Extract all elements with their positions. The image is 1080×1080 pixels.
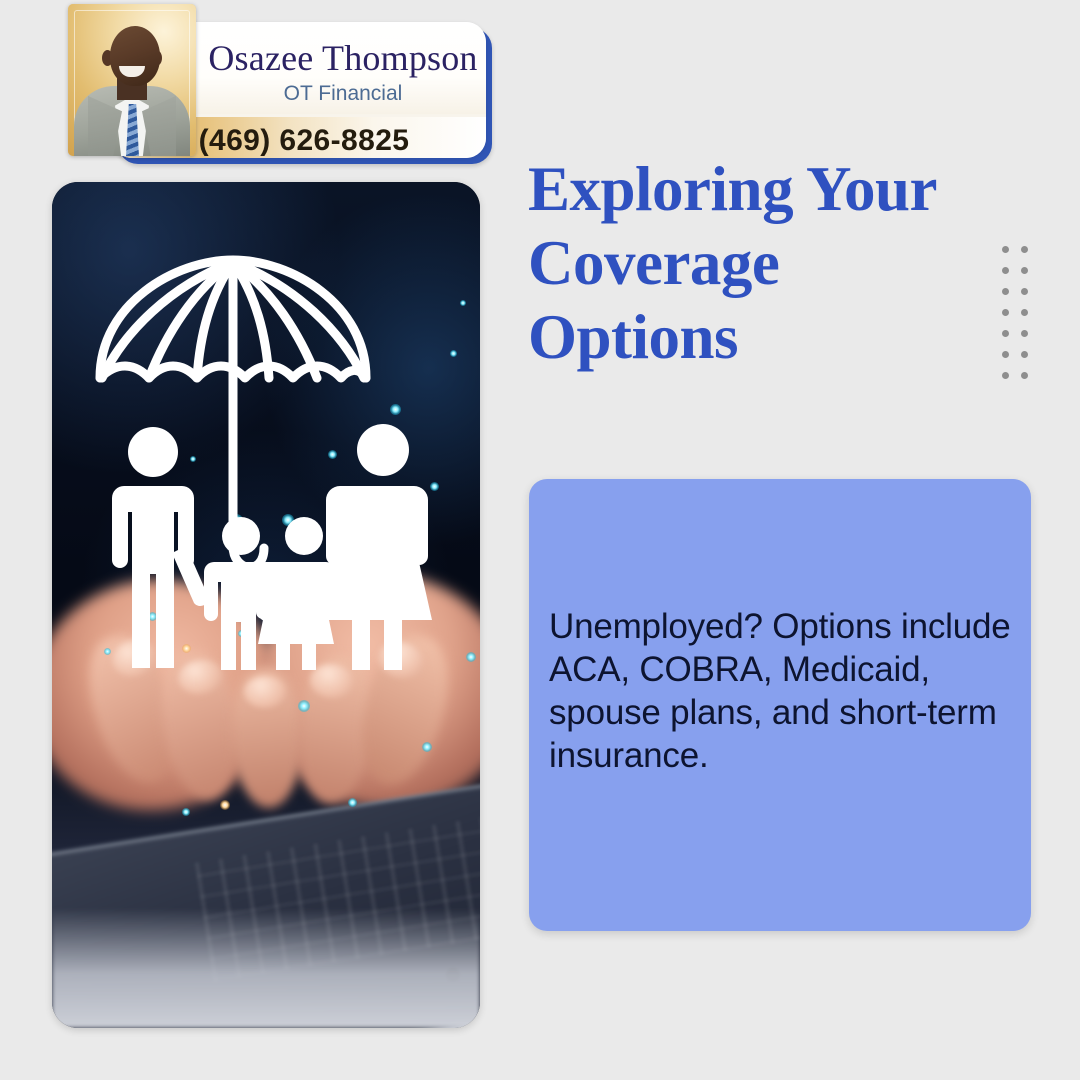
glow-particle (422, 742, 432, 752)
glow-particle (460, 300, 466, 306)
headshot-head (110, 26, 160, 86)
glow-particle (182, 808, 190, 816)
glow-particle (466, 652, 476, 662)
glow-particle (348, 798, 357, 807)
glow-particle (298, 700, 310, 712)
grid-dot (1021, 351, 1028, 358)
grid-dot (1021, 330, 1028, 337)
grid-dot (1021, 288, 1028, 295)
hero-image-panel (52, 182, 480, 1028)
headshot-photo (68, 4, 196, 156)
grid-dot (1002, 309, 1009, 316)
grid-dot (1002, 372, 1009, 379)
desk-highlight (52, 908, 480, 1028)
company-name: OT Financial (202, 82, 484, 106)
grid-dot (1002, 246, 1009, 253)
body-text-card: Unemployed? Options include ACA, COBRA, … (529, 479, 1031, 931)
glow-particle (450, 350, 457, 357)
grid-dot (1021, 267, 1028, 274)
grid-dot (1021, 246, 1028, 253)
grid-dot (1002, 351, 1009, 358)
phone-number: (469) 626-8825 (199, 124, 410, 158)
dot-grid-decoration (1002, 246, 1034, 392)
umbrella-and-family-icon (90, 250, 446, 670)
page-title: Exploring Your Coverage Options (528, 152, 998, 374)
grid-dot (1002, 288, 1009, 295)
grid-dot (1021, 309, 1028, 316)
grid-dot (1002, 267, 1009, 274)
agent-name: Osazee Thompson (202, 38, 484, 78)
poster-canvas: Osazee Thompson OT Financial (469) 626-8… (0, 0, 1080, 1080)
fingernail (244, 676, 286, 708)
grid-dot (1021, 372, 1028, 379)
agent-headshot (68, 4, 196, 156)
grid-dot (1002, 330, 1009, 337)
glow-particle-warm (220, 800, 230, 810)
body-text: Unemployed? Options include ACA, COBRA, … (549, 605, 1011, 777)
